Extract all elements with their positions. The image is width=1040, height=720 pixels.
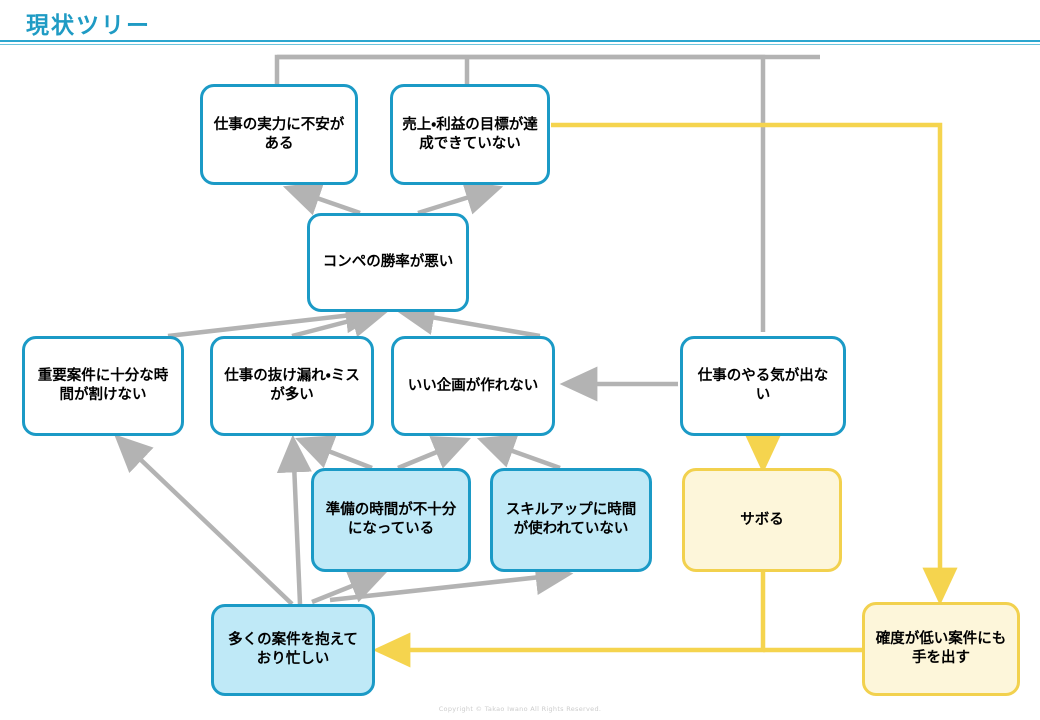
node-skill-anxiety[interactable]: 仕事の実力に不安がある <box>200 84 358 185</box>
edge-deals-to-skillup <box>330 574 568 600</box>
node-low-win-rate[interactable]: コンペの勝率が悪い <box>307 213 469 312</box>
node-label: 仕事のやる気が出ない <box>692 367 834 404</box>
node-label: 確度が低い案件にも手を出す <box>874 630 1008 667</box>
node-label: 重要案件に十分な時間が割けない <box>34 367 172 404</box>
node-not-enough-prep[interactable]: 準備の時間が不十分になっている <box>311 468 471 572</box>
edge-deals-to-notime <box>118 438 292 604</box>
node-label: 多くの案件を抱えており忙しい <box>223 631 363 668</box>
node-label: 準備の時間が不十分になっている <box>323 501 459 538</box>
node-bad-proposals[interactable]: いい企画が作れない <box>391 336 555 436</box>
node-chase-low-odds[interactable]: 確度が低い案件にも手を出す <box>862 602 1020 696</box>
node-slacking-off[interactable]: サボる <box>682 468 842 572</box>
node-many-mistakes[interactable]: 仕事の抜け漏れ・ミスが多い <box>210 336 374 436</box>
node-sales-target-miss[interactable]: 売上・利益の目標が達成できていない <box>390 84 550 185</box>
node-no-skillup-time[interactable]: スキルアップに時間が使われていない <box>490 468 652 572</box>
node-too-many-deals[interactable]: 多くの案件を抱えており忙しい <box>211 604 375 696</box>
node-label: コンペの勝率が悪い <box>323 253 454 272</box>
node-label: 仕事の実力に不安がある <box>212 116 346 153</box>
edge-prep-to-mistakes <box>300 440 372 468</box>
footer-copyright: Copyright © Takao Iwano All Rights Reser… <box>0 705 1040 713</box>
edge-prep-to-proposals <box>398 440 466 468</box>
slide-canvas: 現状ツリー <box>0 0 1040 720</box>
node-label: 売上・利益の目標が達成できていない <box>402 116 538 153</box>
edge-skillup-to-proposals <box>482 440 560 468</box>
node-no-time-key-deals[interactable]: 重要案件に十分な時間が割けない <box>22 336 184 436</box>
edge-winrate-to-skill-anxiety <box>288 188 360 213</box>
node-label: スキルアップに時間が使われていない <box>502 501 640 538</box>
edge-proposals-to-winrate <box>402 312 540 336</box>
edge-slacking-to-deals <box>378 572 763 650</box>
node-label: いい企画が作れない <box>408 377 539 396</box>
edge-deals-to-mistakes <box>293 440 300 604</box>
node-no-motivation[interactable]: 仕事のやる気が出ない <box>680 336 846 436</box>
node-label: 仕事の抜け漏れ・ミスが多い <box>222 367 362 404</box>
edge-winrate-to-sales-target <box>418 188 498 213</box>
node-label: サボる <box>740 511 784 530</box>
